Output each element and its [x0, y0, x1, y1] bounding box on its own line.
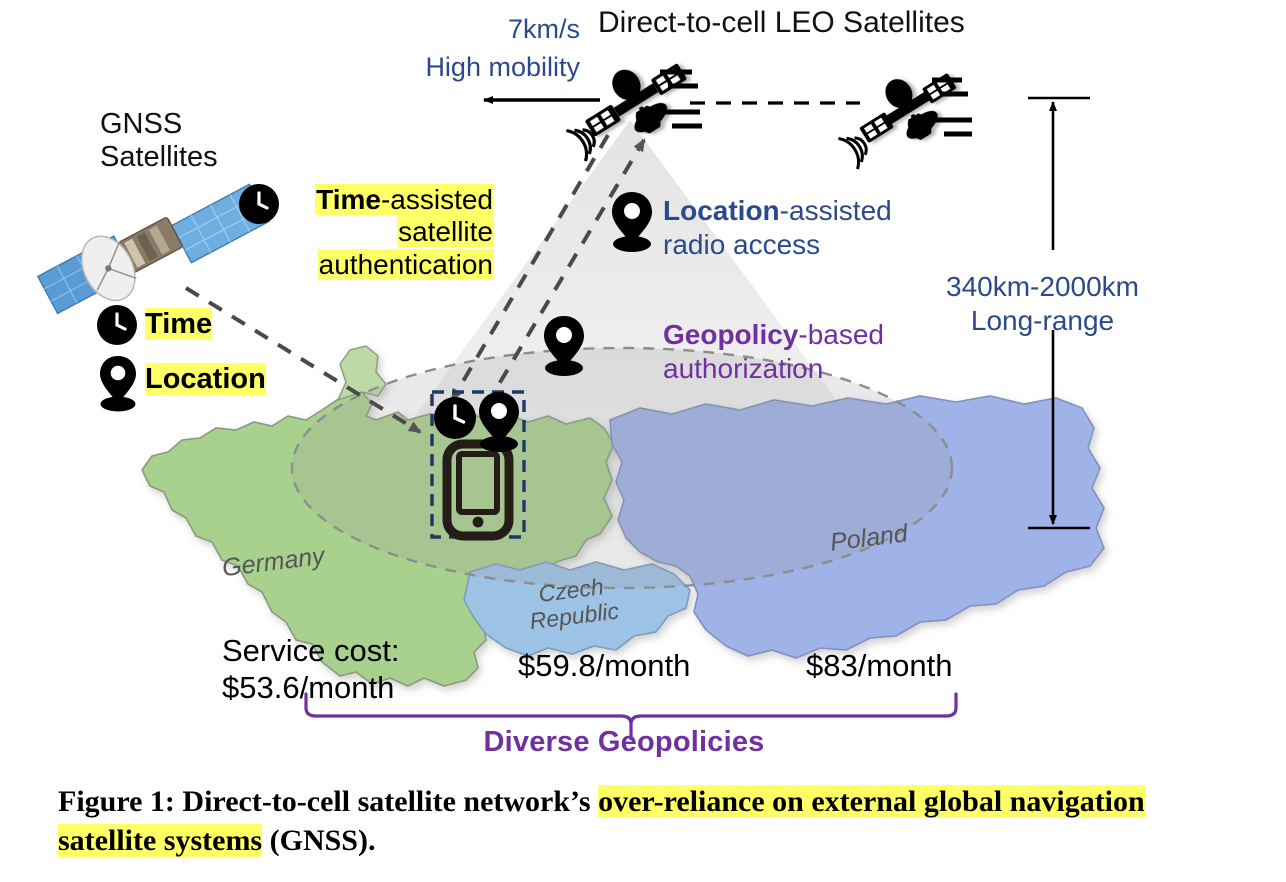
gnss-label-line1: GNSS [100, 108, 218, 141]
location-pin-icon-ue [479, 392, 519, 452]
geopolicy-rest: -based [798, 319, 884, 350]
clock-icon-ue [434, 397, 476, 439]
geopolicy-bold: Geopolicy [663, 319, 798, 350]
high-mobility-label: High mobility [375, 52, 580, 83]
location-assisted-bold: Location [663, 195, 780, 226]
figure-caption: Figure 1: Direct-to-cell satellite netwo… [58, 782, 1233, 860]
gnss-label-line2: Satellites [100, 141, 218, 174]
altitude-range-label: 340km-2000km Long-range [905, 270, 1180, 338]
altitude-distance: 340km-2000km [905, 270, 1180, 304]
location-assisted-label: Location-assisted radio access [663, 194, 892, 261]
germany-cost-value: $53.6/month [222, 670, 399, 707]
legend-item-location: Location [145, 363, 266, 396]
service-cost-prefix: Service cost: [222, 633, 399, 670]
diverse-geopolicies-text: Diverse Geopolicies [483, 726, 764, 758]
legend-location-label: Location [145, 363, 266, 395]
location-assisted-line2: radio access [663, 228, 892, 262]
location-pin-icon-geopolicy [544, 316, 584, 376]
gnss-satellites-label: GNSS Satellites [100, 108, 218, 174]
map-label-czech-republic: Czech Republic [525, 573, 620, 635]
diverse-geopolicies-bracket-label: Diverse Geopolicies [0, 726, 1286, 759]
geopolicy-authorization-label: Geopolicy-based authorization [663, 318, 884, 385]
legend-time-label: Time [145, 308, 212, 340]
time-assisted-authentication-label: Time-assisted satellite authentication [262, 184, 494, 281]
speed-value: 7km/s [480, 14, 580, 45]
legend-item-time: Time [145, 308, 212, 341]
germany-service-cost: Service cost: $53.6/month [222, 633, 399, 706]
location-assisted-rest: -assisted [780, 195, 892, 226]
gnss-satellite-icon [34, 161, 269, 329]
time-assisted-rest: -assisted [381, 184, 493, 215]
altitude-long-range: Long-range [905, 304, 1180, 338]
geopolicy-line2: authorization [663, 352, 884, 386]
time-assisted-line2: satellite [397, 216, 494, 247]
clock-icon-legend [97, 305, 137, 345]
location-pin-icon-loc-assisted [612, 192, 652, 252]
time-assisted-bold: Time [316, 184, 381, 215]
poland-cost-value: $83/month [806, 648, 953, 684]
czech-cost-value: $59.8/month [518, 648, 690, 684]
caption-part1: Figure 1: Direct-to-cell satellite netwo… [58, 785, 598, 818]
leo-satellites-title: Direct-to-cell LEO Satellites [598, 6, 965, 40]
caption-part2: (GNSS). [262, 824, 375, 857]
time-assisted-line3: authentication [318, 249, 494, 280]
location-pin-icon-legend [100, 356, 136, 412]
